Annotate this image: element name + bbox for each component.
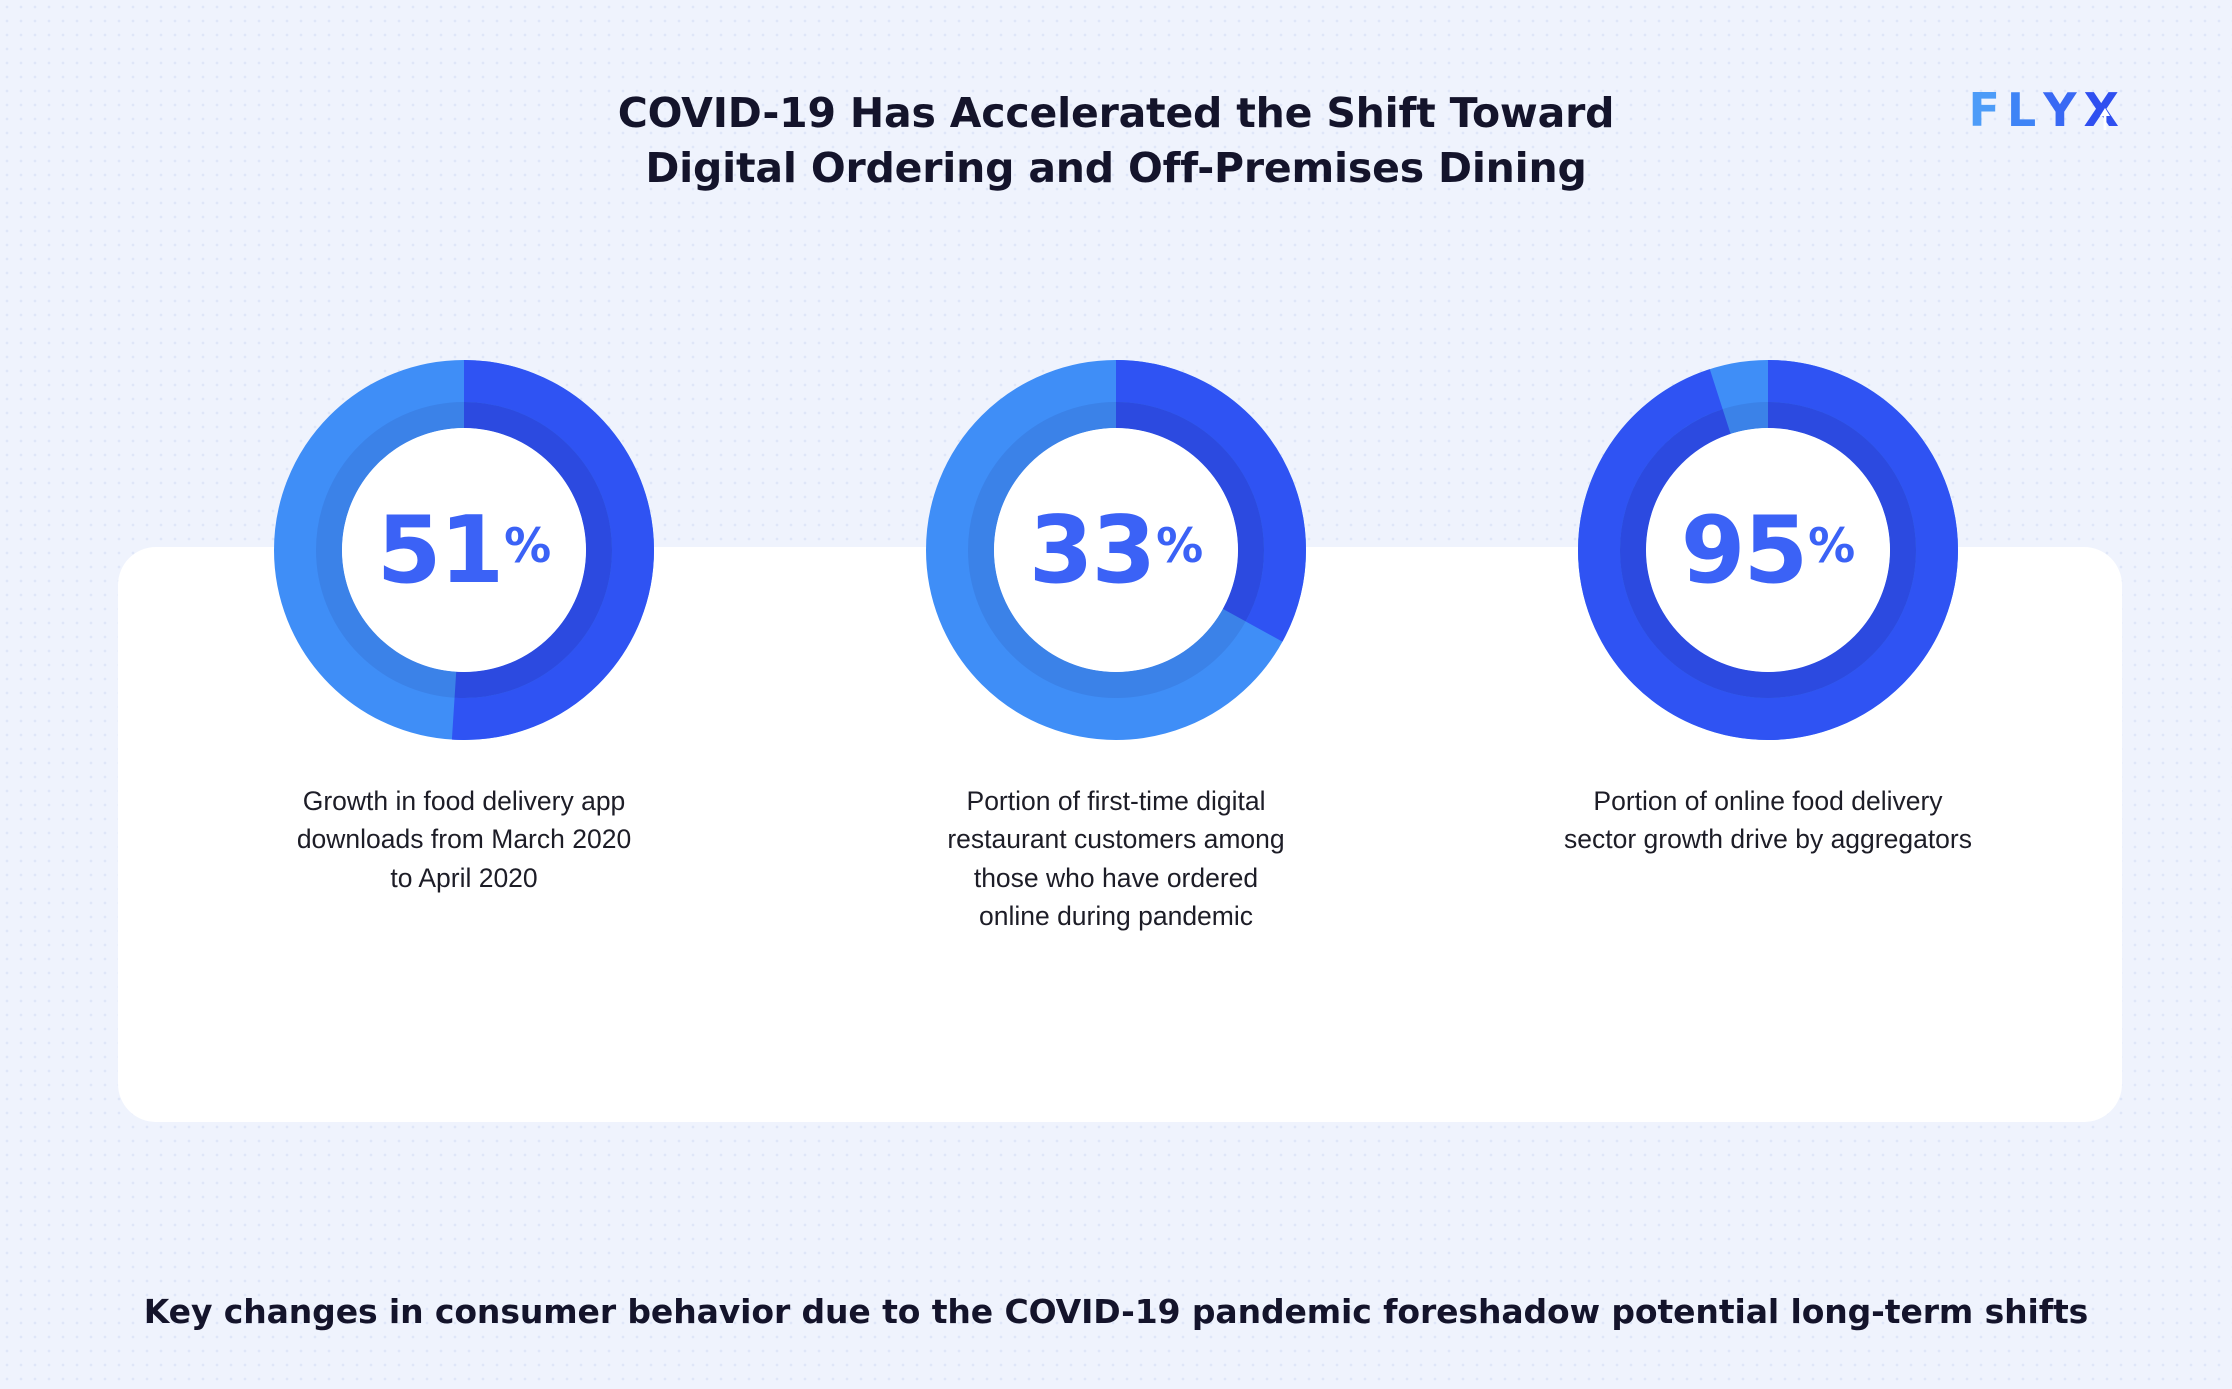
stats-row: 51 % Growth in food delivery app downloa…	[0, 360, 2232, 1100]
logo-letter-f: F	[1968, 83, 2006, 137]
donut-value-3: 95	[1681, 504, 1806, 597]
donut-chart-3: 95 %	[1578, 360, 1958, 740]
donut-chart-2: 33 %	[926, 360, 1306, 740]
stat-block-1: 51 % Growth in food delivery app downloa…	[224, 360, 704, 897]
donut-value-2: 33	[1029, 504, 1154, 597]
stat-caption-2: Portion of first-time digital restaurant…	[906, 782, 1326, 936]
logo-letter-x-wrap: X	[2084, 83, 2126, 137]
logo-letter-l: L	[2007, 83, 2043, 137]
donut-chart-1: 51 %	[274, 360, 654, 740]
donut-label-1: 51 %	[274, 360, 654, 740]
donut-percent-1: %	[504, 523, 551, 570]
stat-block-2: 33 % Portion of first-time digital resta…	[876, 360, 1356, 936]
up-arrow-icon	[2099, 108, 2111, 130]
header: COVID-19 Has Accelerated the Shift Towar…	[0, 0, 2232, 250]
brand-logo: F L Y X	[1968, 83, 2126, 137]
footer-note: Key changes in consumer behavior due to …	[0, 1292, 2232, 1331]
logo-letter-y: Y	[2043, 83, 2083, 137]
donut-value-1: 51	[377, 504, 502, 597]
stat-block-3: 95 % Portion of online food delivery sec…	[1528, 360, 2008, 859]
donut-label-2: 33 %	[926, 360, 1306, 740]
donut-label-3: 95 %	[1578, 360, 1958, 740]
stat-caption-3: Portion of online food delivery sector g…	[1558, 782, 1978, 859]
page-title: COVID-19 Has Accelerated the Shift Towar…	[0, 86, 2232, 195]
donut-percent-2: %	[1156, 523, 1203, 570]
stat-caption-1: Growth in food delivery app downloads fr…	[254, 782, 674, 897]
donut-percent-3: %	[1808, 523, 1855, 570]
